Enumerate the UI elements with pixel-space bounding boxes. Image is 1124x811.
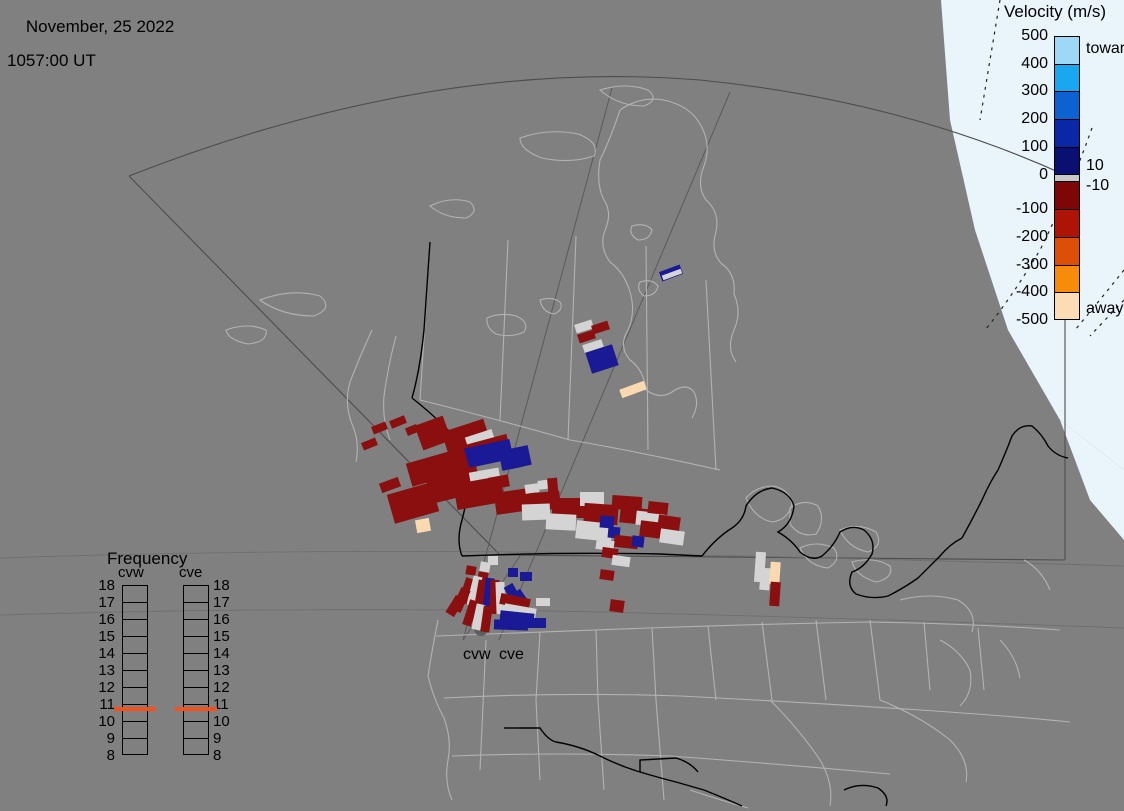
frequency-tick: 12 <box>93 679 115 696</box>
colorbar-band <box>1054 237 1080 265</box>
frequency-tick: 9 <box>213 730 235 747</box>
radar-site-label-cvw: cvw <box>463 646 491 664</box>
colorbar-band <box>1054 265 1080 293</box>
velocity-cell <box>659 528 685 545</box>
frequency-tick: 14 <box>213 645 235 662</box>
frequency-column-header: cvw <box>118 564 144 581</box>
frequency-cell <box>123 586 147 603</box>
velocity-colorbar <box>1054 36 1080 320</box>
frequency-tick: 13 <box>93 662 115 679</box>
frequency-marker-cve <box>175 707 217 711</box>
frequency-tick: 15 <box>213 628 235 645</box>
frequency-tick: 16 <box>93 611 115 628</box>
frequency-cell <box>184 603 208 620</box>
frequency-column-header: cve <box>179 564 202 581</box>
colorbar-tick: -300 <box>1000 256 1048 274</box>
frequency-cell <box>184 654 208 671</box>
colorbar-ground-high-label: 10 <box>1086 157 1104 175</box>
velocity-cell <box>415 518 431 533</box>
frequency-tick: 18 <box>93 577 115 594</box>
frequency-cell <box>123 739 147 756</box>
colorbar-band <box>1054 181 1080 209</box>
colorbar-away-label: away <box>1086 300 1123 318</box>
frequency-tick: 18 <box>213 577 235 594</box>
frequency-cell <box>123 654 147 671</box>
velocity-cell <box>379 477 401 493</box>
frequency-cell <box>184 688 208 705</box>
velocity-cell <box>494 619 528 630</box>
frequency-cell <box>184 586 208 603</box>
coastlines-and-state-borders <box>226 86 1070 808</box>
map-canvas <box>0 0 1124 811</box>
frequency-cell <box>184 637 208 654</box>
frequency-tick: 12 <box>213 679 235 696</box>
projection-frame <box>129 77 1065 560</box>
velocity-cell <box>536 598 550 606</box>
frequency-tick: 10 <box>213 713 235 730</box>
velocity-cell <box>769 562 781 585</box>
colorbar-tick: 200 <box>1000 110 1048 128</box>
velocity-cell <box>647 501 668 515</box>
velocity-cell <box>546 513 577 531</box>
frequency-tick: 10 <box>93 713 115 730</box>
colorbar-toward-label: toward <box>1086 40 1124 58</box>
frequency-tick: 17 <box>213 594 235 611</box>
colorbar-tick: 300 <box>1000 82 1048 100</box>
colorbar-tick: 100 <box>1000 138 1048 156</box>
colorbar-tick: -100 <box>1000 200 1048 218</box>
frequency-marker-cvw <box>114 707 156 711</box>
frequency-cell <box>123 620 147 637</box>
frequency-cell <box>184 620 208 637</box>
velocity-cell <box>465 565 476 576</box>
frequency-cell <box>123 722 147 739</box>
colorbar-band <box>1054 119 1080 147</box>
velocity-cell <box>769 582 781 607</box>
timestamp-time: 1057:00 UT <box>7 52 174 69</box>
colorbar-tick: 400 <box>1000 55 1048 73</box>
frequency-column-cve <box>183 585 209 755</box>
international-borders <box>412 242 1068 806</box>
velocity-cell <box>361 437 378 450</box>
colorbar-band <box>1054 292 1080 320</box>
colorbar-tick: -500 <box>1000 311 1048 329</box>
frequency-tick: 8 <box>93 747 115 764</box>
frequency-tick: 8 <box>213 747 235 764</box>
frequency-cell <box>123 637 147 654</box>
velocity-cell <box>389 415 407 428</box>
velocity-cell <box>508 568 518 577</box>
velocity-cell <box>599 569 614 581</box>
colorbar-band <box>1054 64 1080 92</box>
frequency-tick: 14 <box>93 645 115 662</box>
colorbar-tick: 500 <box>1000 27 1048 45</box>
colorbar-band <box>1054 36 1080 64</box>
radar-site-label-cve: cve <box>499 646 524 664</box>
radar-map-plot: November, 25 2022 1057:00 UT Velocity (m… <box>0 0 1124 811</box>
frequency-tick: 15 <box>93 628 115 645</box>
colorbar-tick: 0 <box>1000 166 1048 184</box>
frequency-tick: 9 <box>93 730 115 747</box>
frequency-cell <box>123 671 147 688</box>
velocity-cell <box>600 515 615 528</box>
frequency-tick: 13 <box>213 662 235 679</box>
velocity-cell <box>488 556 498 565</box>
velocity-cell <box>759 568 771 591</box>
velocity-cell <box>522 504 551 521</box>
velocity-cell <box>520 572 532 581</box>
frequency-cell <box>184 671 208 688</box>
colorbar-ground-low-label: -10 <box>1086 177 1109 195</box>
velocity-cell <box>524 483 539 494</box>
frequency-tick: 11 <box>93 696 115 713</box>
colorbar-band <box>1054 91 1080 119</box>
frequency-cell <box>184 722 208 739</box>
timestamp-date: November, 25 2022 <box>26 17 174 36</box>
frequency-column-cvw <box>122 585 148 755</box>
colorbar-band <box>1054 147 1080 175</box>
colorbar-band <box>1054 174 1080 181</box>
frequency-tick: 16 <box>213 611 235 628</box>
frequency-cell <box>123 603 147 620</box>
velocity-cell <box>547 478 559 501</box>
velocity-cell <box>619 381 647 398</box>
frequency-tick: 17 <box>93 594 115 611</box>
velocity-cell <box>609 599 625 613</box>
colorbar-band <box>1054 209 1080 237</box>
frequency-cell <box>123 688 147 705</box>
colorbar-tick: -200 <box>1000 228 1048 246</box>
velocity-cell <box>524 618 546 628</box>
timestamp: November, 25 2022 1057:00 UT <box>7 1 174 103</box>
frequency-cell <box>184 739 208 756</box>
colorbar-title: Velocity (m/s) <box>1004 2 1106 22</box>
colorbar-tick: -400 <box>1000 283 1048 301</box>
velocity-cell <box>631 535 644 547</box>
